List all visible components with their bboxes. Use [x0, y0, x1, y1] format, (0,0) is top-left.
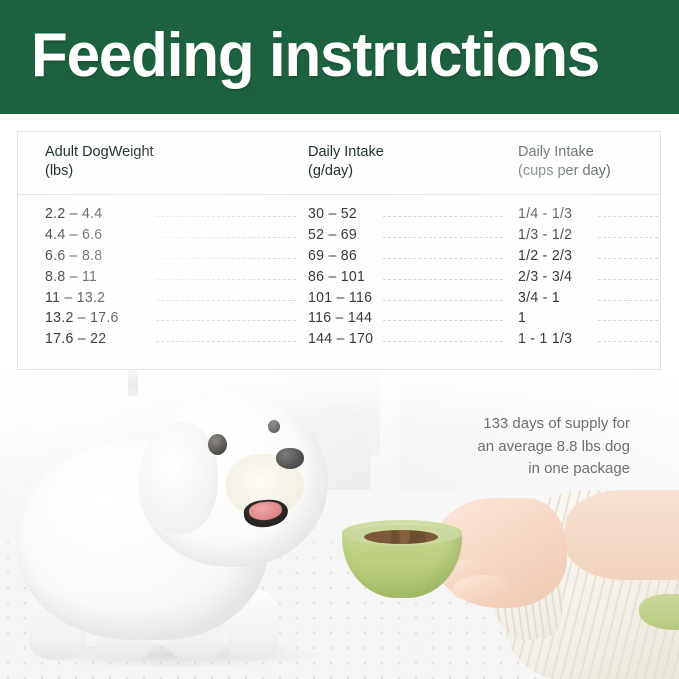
cell-weight: 11 – 13.2: [45, 288, 105, 308]
cell-cups: 1: [518, 308, 526, 328]
leader-line: [598, 341, 658, 342]
cell-cups: 1 - 1 1/3: [518, 329, 572, 349]
leader-line: [156, 341, 296, 342]
page-title: Feeding instructions: [31, 15, 599, 97]
table-header-row: Adult DogWeight (lbs) Daily Intake (g/da…: [18, 132, 660, 195]
table-row: 17.6 – 22 144 – 170 1 - 1 1/3: [18, 329, 660, 350]
leader-line: [598, 258, 658, 259]
table-body: 2.2 – 4.4 30 – 52 1/4 - 1/3 4.4 – 6.6 52…: [18, 195, 660, 350]
cell-weight: 17.6 – 22: [45, 329, 106, 349]
dog-ear: [140, 422, 218, 534]
table-row: 6.6 – 8.8 69 – 86 1/2 - 2/3: [18, 246, 660, 267]
leader-line: [156, 216, 296, 217]
cell-cups: 1/3 - 1/2: [518, 225, 572, 245]
cell-grams: 144 – 170: [308, 329, 373, 349]
leader-line: [598, 279, 658, 280]
cell-grams: 69 – 86: [308, 246, 357, 266]
leader-line: [598, 216, 658, 217]
dog-nose: [276, 448, 304, 469]
table-row: 13.2 – 17.6 116 – 144 1: [18, 308, 660, 329]
leader-line: [383, 237, 503, 238]
leader-line: [156, 300, 296, 301]
table-row: 4.4 – 6.6 52 – 69 1/3 - 1/2: [18, 225, 660, 246]
dog-eye: [268, 420, 280, 433]
column-header-weight: Adult DogWeight (lbs): [45, 143, 154, 181]
cell-cups: 2/3 - 3/4: [518, 267, 572, 287]
leader-line: [598, 237, 658, 238]
leader-line: [383, 341, 503, 342]
cell-grams: 101 – 116: [308, 288, 372, 308]
cell-weight: 13.2 – 17.6: [45, 308, 119, 328]
cell-cups: 1/2 - 2/3: [518, 246, 572, 266]
feeding-table: Adult DogWeight (lbs) Daily Intake (g/da…: [17, 131, 661, 370]
dog-photo-subject: [18, 392, 363, 660]
cell-grams: 86 – 101: [308, 267, 365, 287]
leader-line: [383, 216, 503, 217]
kibble-food: [364, 530, 438, 544]
person-arm: [565, 490, 679, 580]
table-row: 8.8 – 11 86 – 101 2/3 - 3/4: [18, 267, 660, 288]
cell-grams: 116 – 144: [308, 308, 372, 328]
cell-weight: 6.6 – 8.8: [45, 246, 102, 266]
second-bowl: [639, 594, 679, 630]
cell-weight: 8.8 – 11: [45, 267, 97, 287]
column-header-cups: Daily Intake (cups per day): [518, 143, 611, 181]
leader-line: [598, 320, 658, 321]
cell-weight: 4.4 – 6.6: [45, 225, 102, 245]
supply-note: 133 days of supply for an average 8.8 lb…: [390, 413, 630, 481]
header-band: Feeding instructions: [0, 0, 679, 114]
table-row: 2.2 – 4.4 30 – 52 1/4 - 1/3: [18, 204, 660, 225]
leader-line: [156, 279, 296, 280]
cell-grams: 52 – 69: [308, 225, 357, 245]
dog-eye: [208, 434, 227, 455]
leader-line: [156, 237, 296, 238]
leader-line: [383, 300, 503, 301]
cell-cups: 3/4 - 1: [518, 288, 560, 308]
feeding-instructions-page: Feeding instructions Adult DogWeight (lb…: [0, 0, 679, 679]
cell-cups: 1/4 - 1/3: [518, 204, 572, 224]
leader-line: [383, 279, 503, 280]
cell-grams: 30 – 52: [308, 204, 357, 224]
leader-line: [156, 258, 296, 259]
column-header-grams: Daily Intake (g/day): [308, 143, 384, 181]
leader-line: [598, 300, 658, 301]
food-bowl: [342, 520, 462, 598]
cell-weight: 2.2 – 4.4: [45, 204, 102, 224]
leader-line: [156, 320, 296, 321]
leader-line: [383, 258, 503, 259]
leader-line: [383, 320, 503, 321]
table-row: 11 – 13.2 101 – 116 3/4 - 1: [18, 288, 660, 309]
